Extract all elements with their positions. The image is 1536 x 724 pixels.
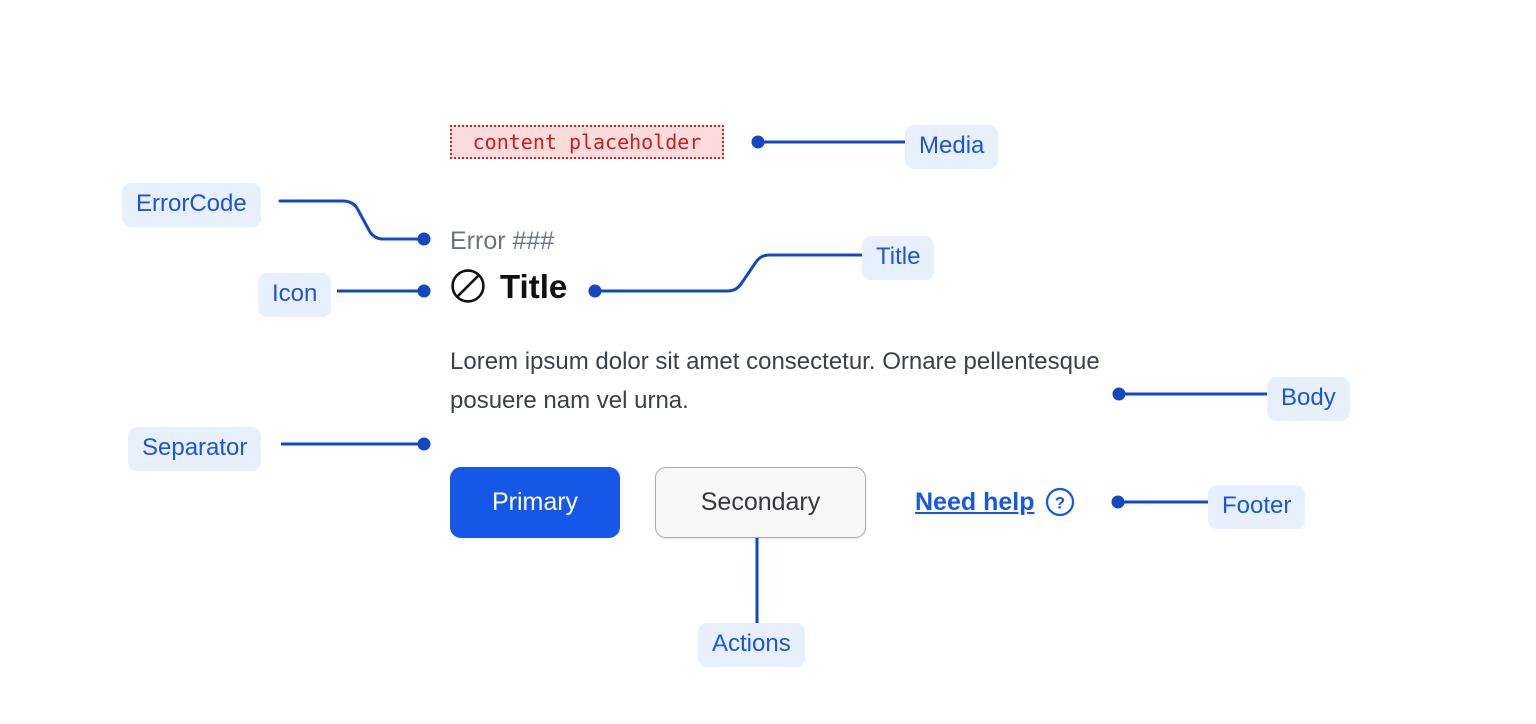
connector-footer [1112,496,1210,509]
need-help-label: Need help [915,488,1034,517]
connector-body [1113,388,1269,401]
prohibited-circle-icon [450,268,486,304]
connector-title [589,255,864,298]
need-help-link[interactable]: Need help ? [915,487,1075,517]
secondary-button[interactable]: Secondary [655,467,866,538]
question-circle-icon: ? [1045,487,1075,517]
actions-row: Primary Secondary [450,467,866,538]
callout-chip-separator[interactable]: Separator [128,427,261,471]
title-row: Title [450,268,567,304]
callout-chip-errorcode[interactable]: ErrorCode [122,183,261,227]
connector-separator [281,438,431,451]
media-content-placeholder: content placeholder [450,125,724,159]
callout-chip-icon[interactable]: Icon [258,273,331,317]
annotation-canvas: content placeholder Error ### Title Lore… [0,0,1536,724]
callout-chip-title[interactable]: Title [862,236,934,280]
error-code-text: Error ### [450,226,554,256]
connector-media [752,136,907,149]
body-text: Lorem ipsum dolor sit amet consectetur. … [450,342,1100,420]
svg-text:?: ? [1055,493,1065,512]
callout-chip-actions[interactable]: Actions [698,623,805,667]
callout-chip-body[interactable]: Body [1267,377,1350,421]
primary-button[interactable]: Primary [450,467,620,538]
connector-actions [751,526,764,625]
callout-chip-footer[interactable]: Footer [1208,485,1305,529]
connector-icon [337,285,431,298]
page-title: Title [500,270,567,303]
connector-errorcode [280,201,431,246]
callout-chip-media[interactable]: Media [905,125,998,169]
